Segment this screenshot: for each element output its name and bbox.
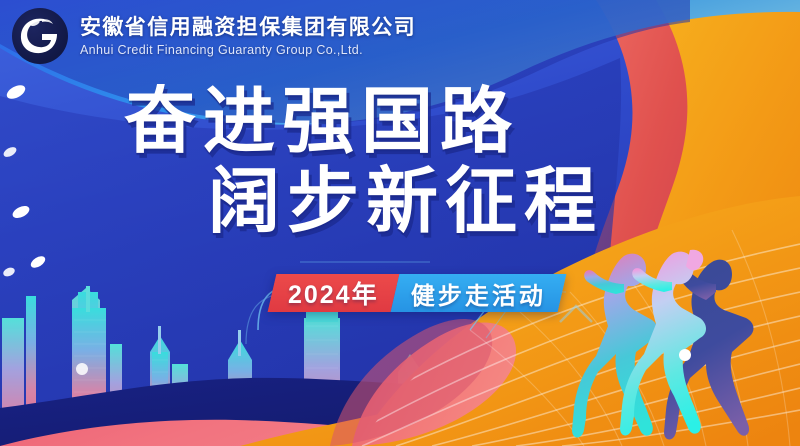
badge-year-label: 2024年 bbox=[288, 275, 379, 311]
title-line-2: 阔步新征程 bbox=[208, 166, 690, 238]
company-name-en: Anhui Credit Financing Guaranty Group Co… bbox=[80, 44, 416, 57]
badge-event-label: 健步走活动 bbox=[411, 276, 546, 311]
main-title: 奋进强国路 阔步新征程 bbox=[0, 86, 690, 238]
company-logo-icon bbox=[12, 8, 68, 64]
brand-header: 安徽省信用融资担保集团有限公司 Anhui Credit Financing G… bbox=[12, 8, 416, 64]
brand-text-group: 安徽省信用融资担保集团有限公司 Anhui Credit Financing G… bbox=[80, 15, 416, 57]
company-name-cn: 安徽省信用融资担保集团有限公司 bbox=[80, 17, 416, 38]
title-line-1: 奋进强国路 bbox=[124, 86, 690, 158]
badge-event-segment: 健步走活动 bbox=[390, 274, 566, 312]
badge-year-segment: 2024年 bbox=[268, 274, 399, 312]
promotional-banner: 安徽省信用融资担保集团有限公司 Anhui Credit Financing G… bbox=[0, 0, 800, 446]
event-badge: 2024年 健步走活动 bbox=[268, 274, 566, 312]
